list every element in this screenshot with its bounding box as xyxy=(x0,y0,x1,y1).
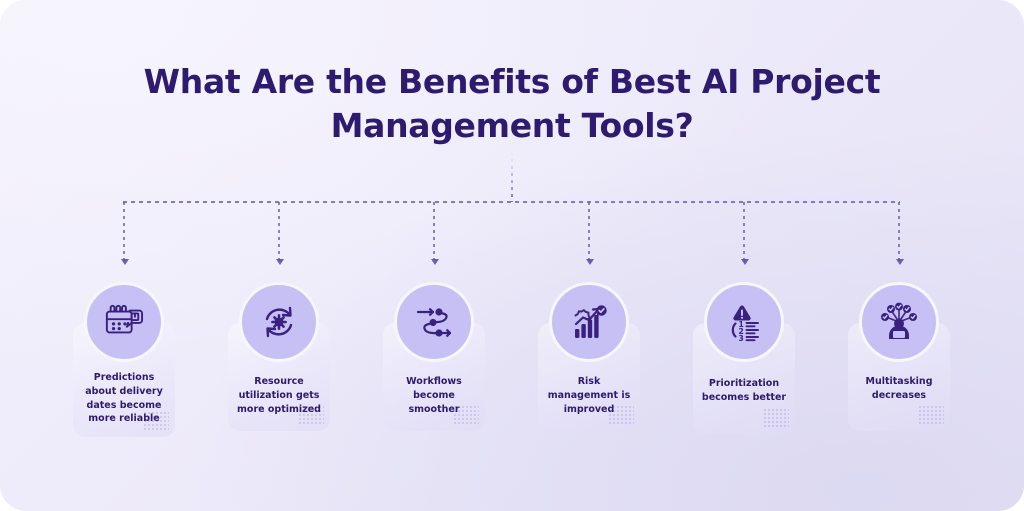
connector-stem xyxy=(511,152,513,202)
connector-drop-3 xyxy=(433,202,435,260)
gear-refresh-icon xyxy=(259,302,299,342)
connector-drop-2 xyxy=(278,202,280,260)
benefit-icon-bubble-prioritization: 1 2 3 xyxy=(704,282,784,362)
connector-arrow-2 xyxy=(276,259,284,265)
card-dot-texture xyxy=(763,408,789,428)
card-dot-texture xyxy=(918,405,944,425)
connector-horizontal-bar xyxy=(123,201,900,203)
numbered-priority-list-warning-icon: 1 2 3 xyxy=(722,302,766,342)
connector-arrow-3 xyxy=(431,259,439,265)
connector-drop-4 xyxy=(588,202,590,260)
benefit-label: Workflows become smoother xyxy=(383,375,485,416)
connector-arrow-6 xyxy=(896,259,904,265)
bar-chart-growth-check-icon xyxy=(569,302,609,342)
connector-drop-5 xyxy=(743,202,745,260)
page-title: What Are the Benefits of Best AI Project… xyxy=(0,60,1024,147)
benefit-label: Predictions about delivery dates become … xyxy=(73,371,175,426)
benefit-label: Multitasking decreases xyxy=(848,375,950,403)
benefit-label: Prioritization becomes better xyxy=(693,377,795,405)
benefit-icon-bubble-workflows xyxy=(394,282,474,362)
connector-drop-1 xyxy=(123,202,125,260)
connector-drop-6 xyxy=(898,202,900,260)
infographic-canvas: What Are the Benefits of Best AI Project… xyxy=(0,0,1024,511)
page-title-line-2: Management Tools? xyxy=(331,106,694,145)
person-multitask-checks-icon xyxy=(878,302,920,342)
connector-arrow-4 xyxy=(586,259,594,265)
workflow-nodes-icon xyxy=(413,303,455,341)
benefit-label: Resource utilization gets more optimized xyxy=(228,375,330,416)
page-title-line-1: What Are the Benefits of Best AI Project xyxy=(144,62,881,101)
benefit-label: Risk management is improved xyxy=(538,375,640,416)
benefit-icon-bubble-multitasking xyxy=(859,282,939,362)
connector-arrow-1 xyxy=(121,259,129,265)
calendar-delivery-icon xyxy=(103,302,145,342)
benefit-icon-bubble-risk-management xyxy=(549,282,629,362)
svg-text:3: 3 xyxy=(739,334,744,342)
benefit-icon-bubble-resource-utilization xyxy=(239,282,319,362)
connector-arrow-5 xyxy=(741,259,749,265)
benefit-icon-bubble-predictions xyxy=(84,282,164,362)
